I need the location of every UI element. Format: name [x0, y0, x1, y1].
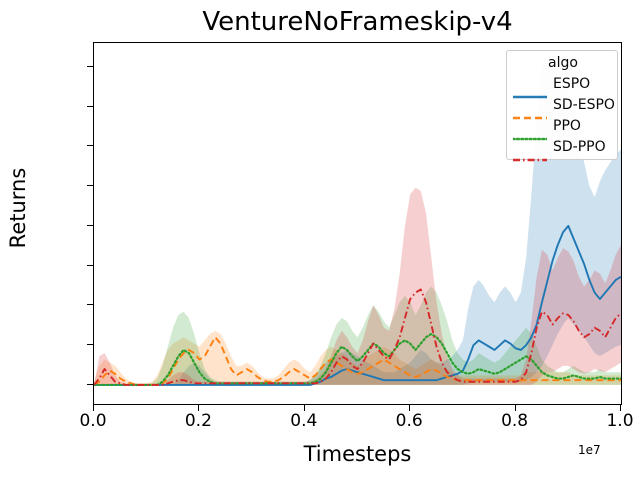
- legend-item-sd-ppo[interactable]: SD-PPO: [513, 138, 617, 158]
- legend-label: PPO: [553, 118, 581, 134]
- x-tick-label: 0.2: [168, 411, 228, 431]
- x-axis-label: Timesteps: [93, 442, 622, 466]
- x-tick-label: 1.0: [590, 411, 640, 431]
- x-tick-label: 0.4: [274, 411, 334, 431]
- legend-label: SD-ESPO: [553, 97, 615, 113]
- x-tick-mark: [304, 405, 305, 411]
- legend-label: SD-PPO: [553, 139, 606, 155]
- x-tick-label: 0.6: [379, 411, 439, 431]
- x-tick-mark: [515, 405, 516, 411]
- chart-title: VentureNoFrameskip-v4: [93, 6, 622, 38]
- legend-item-ppo[interactable]: PPO: [513, 117, 617, 137]
- x-tick-label: 0.8: [485, 411, 545, 431]
- x-tick-label: 0.0: [63, 411, 123, 431]
- legend-swatch-espo: [513, 84, 547, 86]
- legend-item-espo[interactable]: ESPO: [513, 75, 617, 95]
- legend-swatch-ppo: [513, 126, 547, 128]
- x-tick-mark: [620, 405, 621, 411]
- y-axis-label: Returns: [6, 128, 30, 288]
- x-tick-mark: [93, 405, 94, 411]
- legend-label: ESPO: [553, 76, 590, 92]
- legend-swatch-sd-ppo: [513, 147, 547, 149]
- x-tick-mark: [198, 405, 199, 411]
- legend-title: algo: [507, 55, 619, 71]
- legend-item-sd-espo[interactable]: SD-ESPO: [513, 96, 617, 116]
- chart-figure: VentureNoFrameskip-v4 Returns Timesteps …: [0, 0, 640, 480]
- legend-swatch-sd-espo: [513, 105, 547, 107]
- x-axis-exponent: 1e7: [578, 443, 601, 457]
- legend[interactable]: algo ESPOSD-ESPOPPOSD-PPO: [506, 50, 618, 160]
- x-tick-mark: [409, 405, 410, 411]
